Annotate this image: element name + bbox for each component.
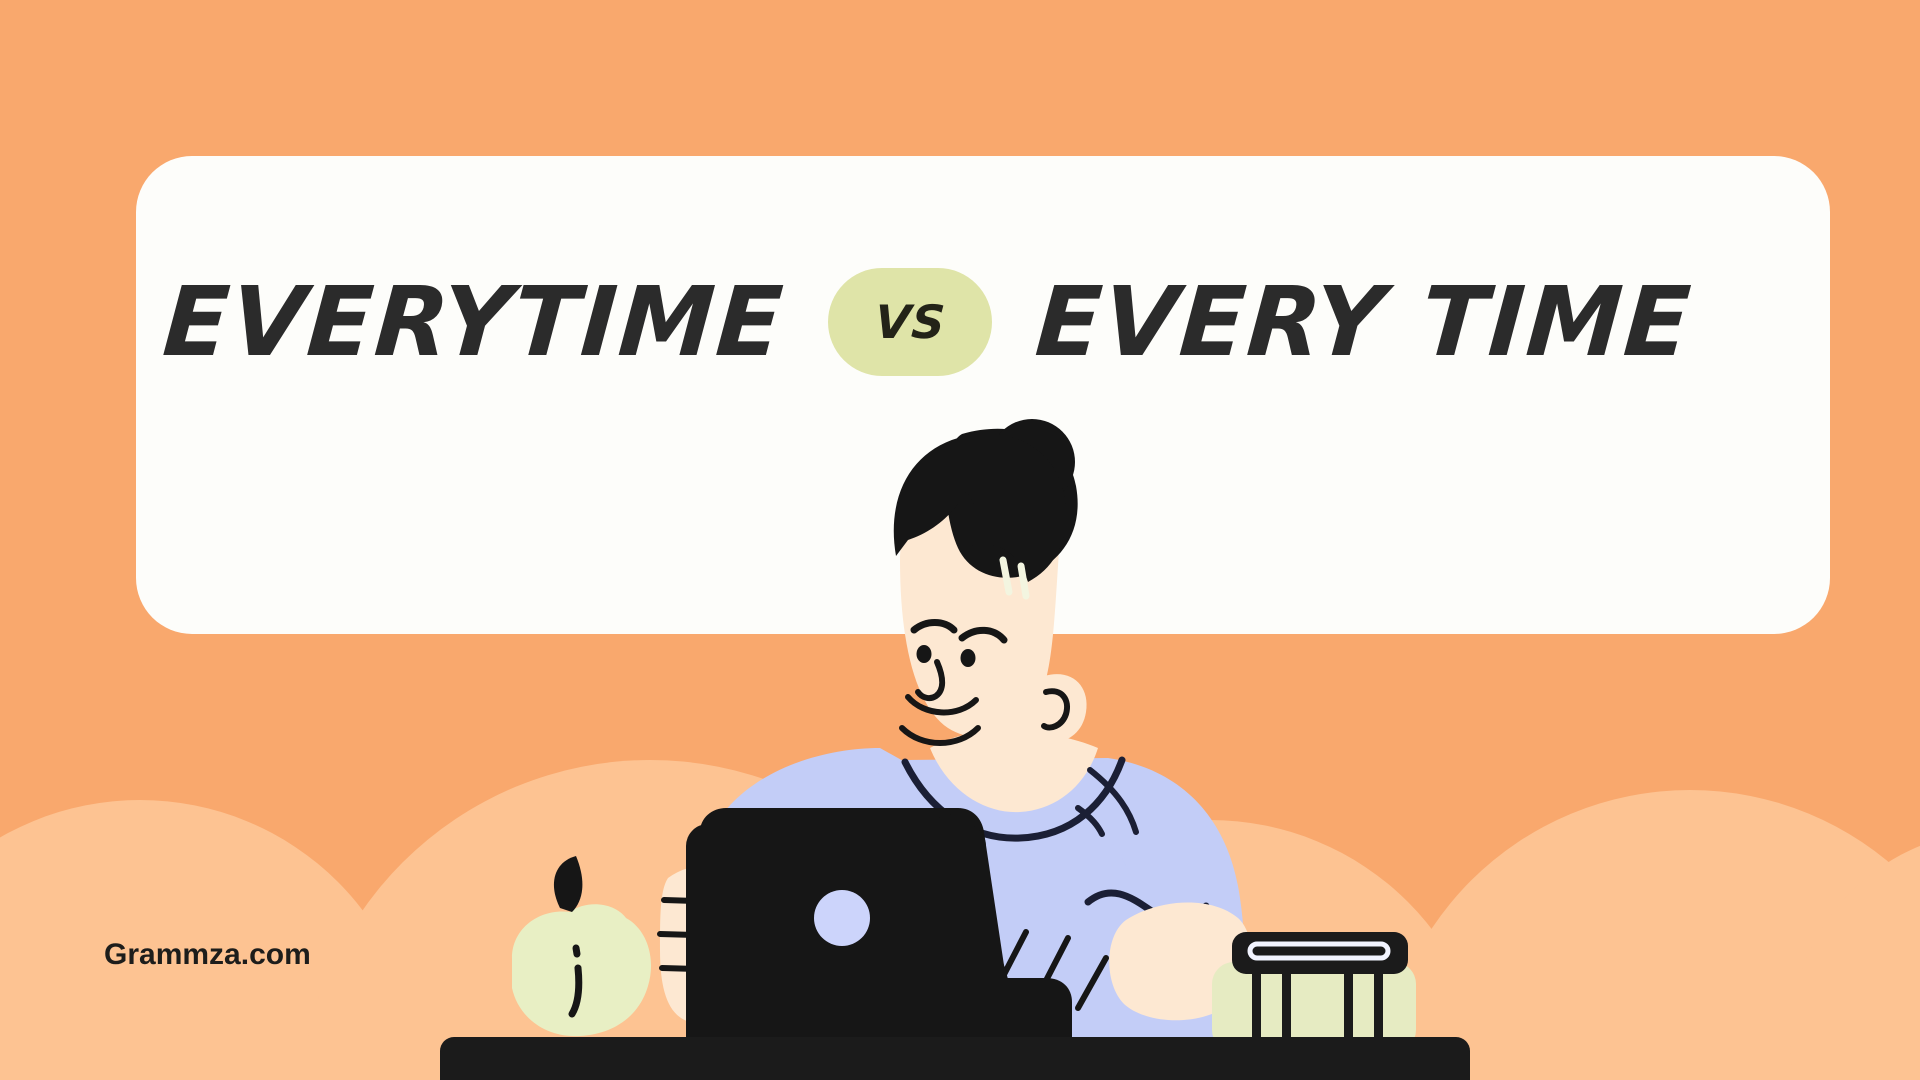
scene-illustration: [0, 0, 1920, 1080]
apple-leaf: [554, 856, 582, 912]
bag: [1212, 932, 1416, 1052]
watermark-text: Grammza.com: [104, 938, 311, 972]
hair-clip: [1021, 566, 1026, 596]
bag-handle: [1232, 932, 1408, 974]
graphic-canvas: EVERYTIME VS EVERY TIME: [0, 0, 1920, 1080]
laptop-logo: [814, 890, 870, 946]
apple: [512, 856, 651, 1036]
desk-surface: [440, 1037, 1470, 1080]
person-head: [894, 419, 1087, 760]
